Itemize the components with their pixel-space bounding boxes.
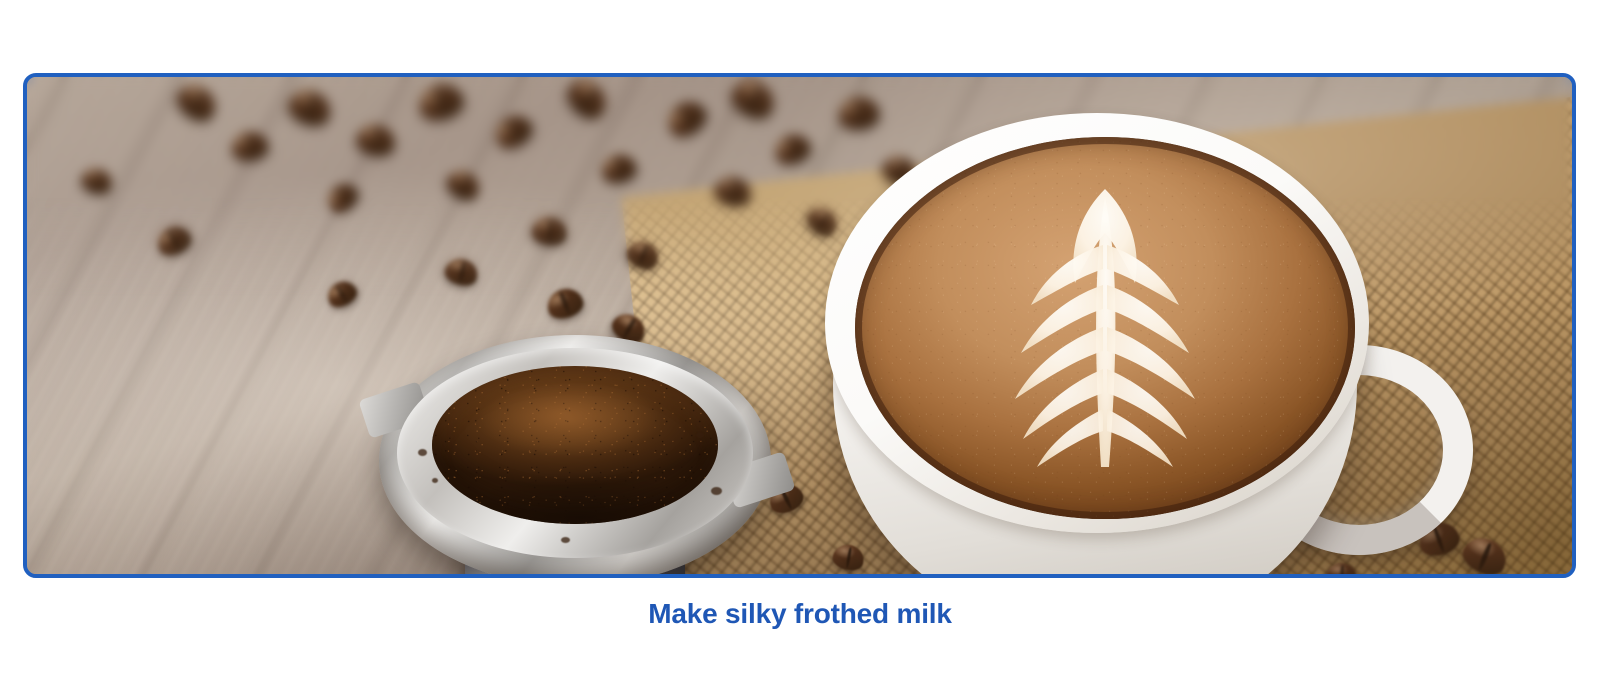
photo-card xyxy=(23,73,1576,578)
cup-rim xyxy=(825,113,1369,533)
feature-banner: Make silky frothed milk xyxy=(0,0,1600,700)
coffee-spill-fleck xyxy=(561,537,570,543)
banner-caption: Make silky frothed milk xyxy=(0,598,1600,630)
coffee-spill-fleck xyxy=(696,432,704,438)
portafilter-rim xyxy=(397,348,754,559)
coffee-spill-fleck xyxy=(418,449,427,456)
coffee-spill-fleck xyxy=(711,487,722,495)
ground-coffee xyxy=(432,366,717,524)
portafilter xyxy=(379,335,771,574)
cup-interior xyxy=(855,137,1355,519)
photo-stage xyxy=(27,77,1572,574)
portafilter-basket xyxy=(379,335,771,574)
latte-cup xyxy=(817,107,1377,574)
ground-coffee-mound-shading xyxy=(432,366,717,524)
rosetta-latte-art xyxy=(855,137,1355,519)
